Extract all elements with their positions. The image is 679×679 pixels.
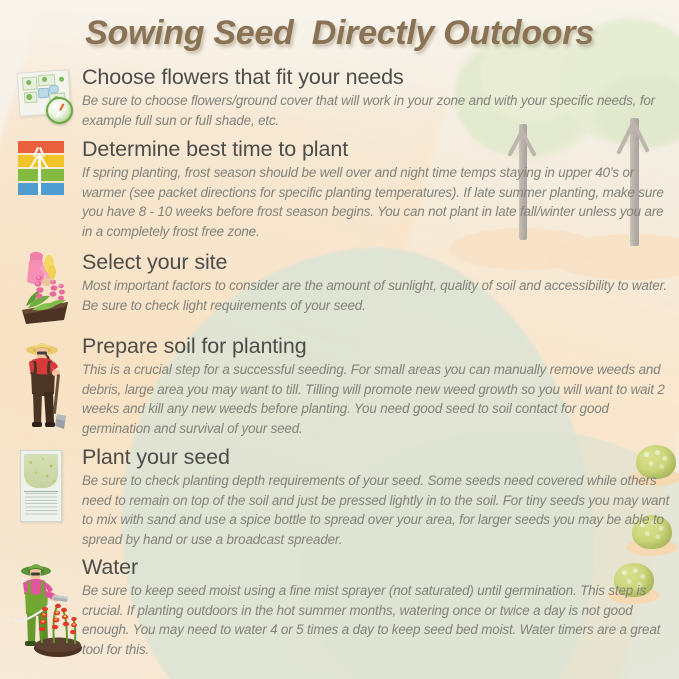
step-body: If spring planting, frost season should … bbox=[82, 163, 672, 241]
step-icon-cell bbox=[10, 135, 82, 213]
step-text-cell: Determine best time to plant If spring p… bbox=[82, 135, 672, 241]
step-body: Be sure to choose flowers/ground cover t… bbox=[82, 91, 672, 130]
gardener-svg bbox=[16, 334, 74, 434]
step-item: Water Be sure to keep seed moist using a… bbox=[10, 553, 672, 659]
step-heading: Choose flowers that fit your needs bbox=[82, 65, 672, 90]
step-text-cell: Water Be sure to keep seed moist using a… bbox=[82, 553, 672, 659]
step-text-cell: Prepare soil for planting This is a cruc… bbox=[82, 332, 672, 438]
compass-needle bbox=[55, 103, 64, 117]
step-item: Choose flowers that fit your needs Be su… bbox=[10, 63, 672, 141]
seed-packet-body bbox=[20, 450, 62, 522]
compass-icon bbox=[46, 97, 73, 124]
poster-content: Sowing Seed Directly Outdoors bbox=[0, 0, 679, 679]
seed-packet-icon bbox=[16, 448, 66, 524]
step-text-cell: Choose flowers that fit your needs Be su… bbox=[82, 63, 672, 130]
step-icon-cell bbox=[10, 248, 82, 326]
seed-packet-divider bbox=[24, 491, 58, 492]
gardener-watering-svg bbox=[12, 555, 84, 659]
step-text-cell: Select your site Most important factors … bbox=[82, 248, 672, 315]
step-item: Select your site Most important factors … bbox=[10, 248, 672, 326]
gardener-with-shovel-icon bbox=[16, 334, 74, 430]
step-heading: Water bbox=[82, 555, 672, 580]
step-item: Prepare soil for planting This is a cruc… bbox=[10, 332, 672, 438]
infographic-poster: Sowing Seed Directly Outdoors bbox=[0, 0, 679, 679]
step-body: This is a crucial step for a successful … bbox=[82, 360, 672, 438]
step-body: Be sure to keep seed moist using a fine … bbox=[82, 581, 672, 659]
step-icon-cell bbox=[10, 553, 82, 657]
step-heading: Determine best time to plant bbox=[82, 137, 672, 162]
step-item: Determine best time to plant If spring p… bbox=[10, 135, 672, 241]
step-heading: Plant your seed bbox=[82, 445, 672, 470]
step-text-cell: Plant your seed Be sure to check plantin… bbox=[82, 443, 672, 549]
page-title: Sowing Seed Directly Outdoors bbox=[0, 14, 679, 53]
step-icon-cell bbox=[10, 63, 82, 141]
seed-packet-seed-image bbox=[24, 454, 58, 488]
flower-planter-icon bbox=[16, 248, 74, 324]
step-heading: Prepare soil for planting bbox=[82, 334, 672, 359]
step-icon-cell bbox=[10, 443, 82, 527]
flower-planter-svg bbox=[16, 248, 74, 328]
step-heading: Select your site bbox=[82, 250, 672, 275]
season-tree-silhouette bbox=[32, 143, 46, 195]
step-item: Plant your seed Be sure to check plantin… bbox=[10, 443, 672, 549]
step-icon-cell bbox=[10, 332, 82, 432]
garden-plan-map-icon bbox=[16, 69, 72, 121]
step-body: Be sure to check planting depth requirem… bbox=[82, 471, 672, 549]
four-seasons-icon bbox=[16, 141, 68, 199]
step-body: Most important factors to consider are t… bbox=[82, 276, 672, 315]
gardener-watering-icon bbox=[12, 555, 82, 651]
seed-packet-instructions-text bbox=[25, 493, 57, 517]
